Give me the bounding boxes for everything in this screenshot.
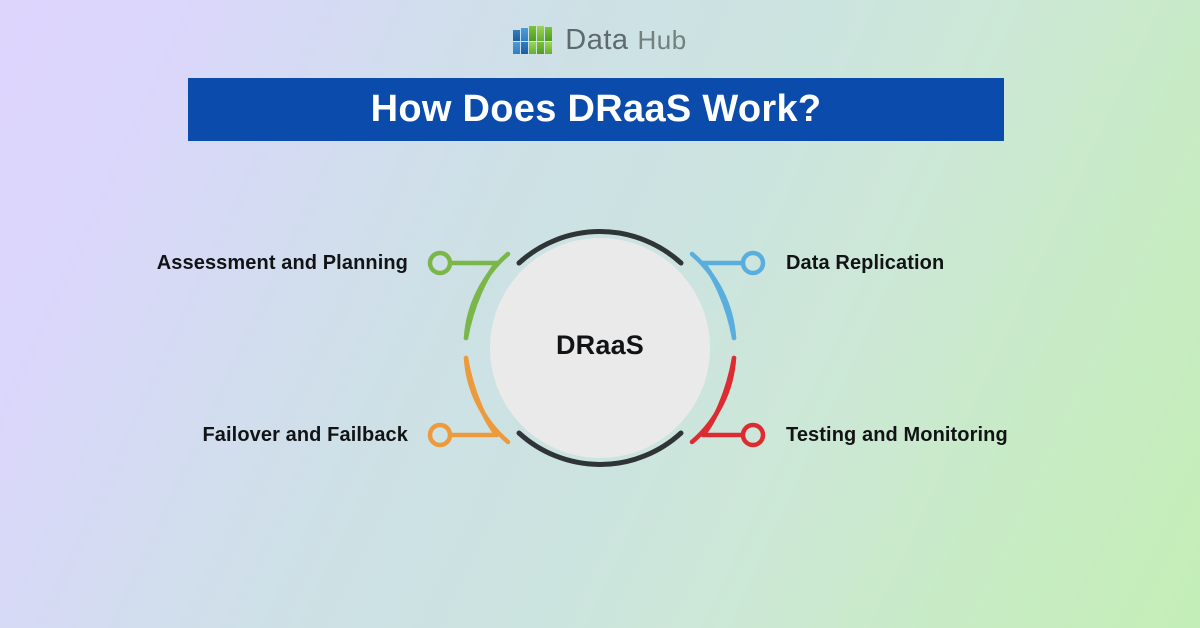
brand-name-secondary: Hub [638,25,687,56]
marker-bottom-left[interactable] [430,425,450,445]
connector-bottom-left [452,358,497,435]
center-label: DRaaS [490,330,710,361]
node-label-testing-and-monitoring: Testing and Monitoring [786,424,1200,447]
brand-logo: Data Hub [0,24,1200,57]
draas-process-diagram: DRaaS Assessment and Planning Data Repli… [0,150,1200,570]
connector-top-left [452,263,497,338]
title-banner: How Does DRaaS Work? [188,78,1004,141]
brand-name-primary: Data [565,24,628,57]
marker-bottom-right[interactable] [743,425,763,445]
marker-top-left[interactable] [430,253,450,273]
node-label-data-replication: Data Replication [786,252,1200,275]
marker-top-right[interactable] [743,253,763,273]
infographic-canvas: Data Hub How Does DRaaS Work? [0,0,1200,628]
connector-bottom-right [703,358,741,435]
grid-bars-logo-icon [513,26,553,56]
node-label-failover-and-failback: Failover and Failback [0,424,408,447]
connector-top-right [703,263,741,338]
node-label-assessment-and-planning: Assessment and Planning [0,252,408,275]
page-title: How Does DRaaS Work? [371,88,822,131]
brand-name: Data Hub [565,24,686,57]
